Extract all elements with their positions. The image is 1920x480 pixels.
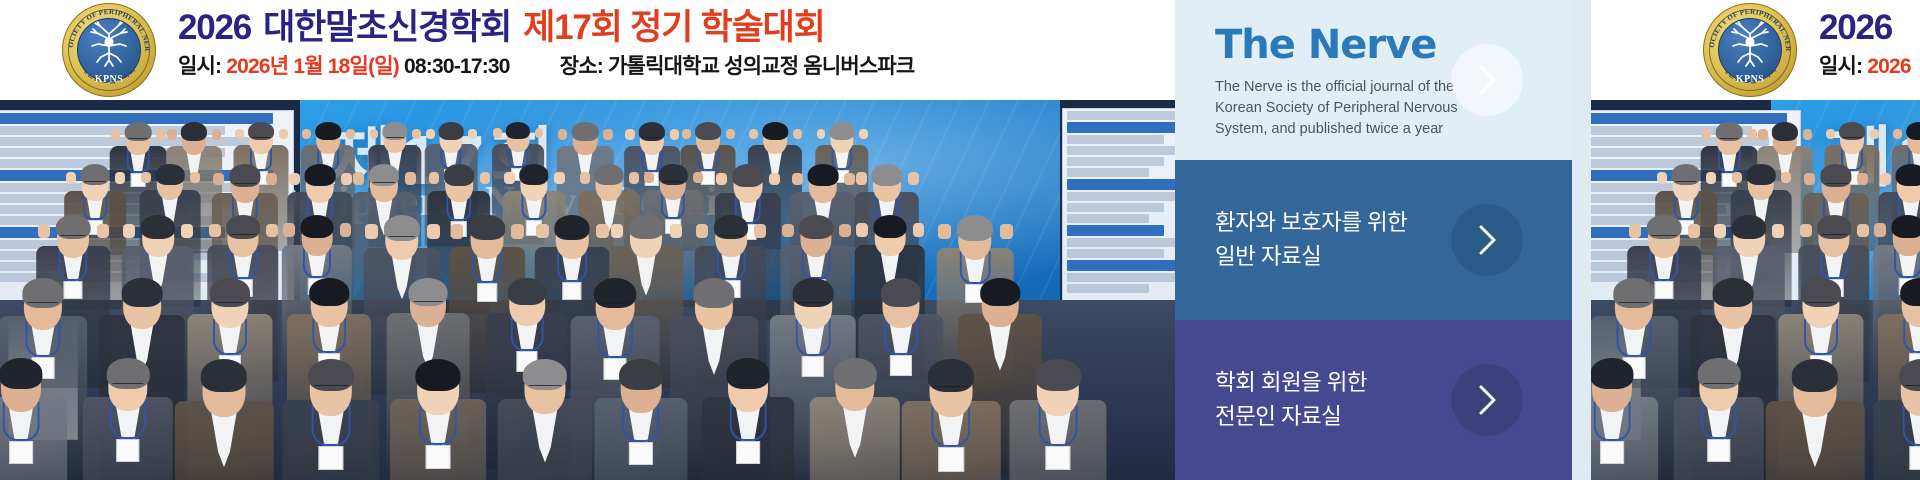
chevron-right-icon[interactable]: [1451, 364, 1523, 436]
sidebar-edge-strip: [1572, 0, 1591, 480]
attendee-raised-fist: [908, 172, 919, 184]
attendee-glasses: [372, 182, 395, 188]
attendee-glasses: [528, 385, 562, 393]
attendee-raised-fist: [1800, 224, 1812, 238]
attendee-raised-fist: [346, 129, 355, 139]
seal-acronym-next: KPNS: [1703, 74, 1797, 85]
next-date-label: 일시:: [1819, 55, 1862, 78]
attendee: [594, 355, 687, 480]
attendee: [175, 355, 274, 480]
attendee-raised-fist: [856, 223, 868, 237]
attendee-glasses: [559, 235, 586, 241]
attendee-raised-fist: [289, 173, 300, 186]
attendee-glasses: [413, 301, 443, 308]
attendee-glasses: [1719, 138, 1739, 143]
attendee-raised-fist: [1706, 172, 1716, 184]
attendee-badge: [318, 446, 343, 470]
attendee: [1873, 355, 1920, 480]
attendee-glasses: [233, 183, 257, 189]
attendee-raised-fist: [181, 224, 193, 238]
the-nerve-logo: The Nerve: [1215, 21, 1465, 69]
neuron-icon: [1724, 20, 1776, 72]
attendee-glasses: [798, 302, 829, 309]
attendee-glasses: [1618, 302, 1649, 310]
attendee-raised-fist: [859, 129, 868, 139]
attendee-hair: [572, 122, 599, 141]
attendee: [390, 355, 486, 480]
date-value: 2026년 1월 18일(일): [226, 55, 399, 78]
attendee-hair: [181, 122, 207, 141]
banner-photo: 제17회 Peripheral Nerve Repair: [0, 100, 1175, 480]
attendee-hair: [305, 164, 336, 186]
attendee-glasses: [27, 302, 58, 310]
attendee-raised-fist: [156, 129, 165, 140]
attendee-raised-fist: [793, 129, 802, 139]
kpns-logo: THE KOREAN SOCIETY OF PERIPHERAL NERVOUS…: [62, 3, 156, 97]
next-banner-title: 2026: [1819, 6, 1911, 50]
attendee-raised-fist: [123, 224, 135, 238]
program-board-right: [1062, 108, 1175, 313]
attendee-raised-fist: [611, 224, 623, 238]
banner-title-society: 대한말초신경학회: [263, 8, 511, 47]
attendee-raised-fist: [749, 129, 758, 139]
attendee: [1009, 355, 1106, 480]
attendee-hair: [1900, 278, 1920, 306]
attendee-raised-fist: [535, 128, 544, 138]
attendee-hair: [594, 164, 623, 185]
date-label: 일시:: [178, 55, 221, 78]
attendee-raised-fist: [167, 129, 176, 140]
attendee-glasses: [1675, 181, 1697, 186]
attendee-raised-fist: [670, 224, 682, 238]
attendee-raised-fist: [913, 223, 925, 237]
attendee: [702, 355, 794, 480]
attendee-hair: [1891, 215, 1920, 239]
attendee-raised-fist: [726, 129, 735, 140]
attendee-badge: [938, 447, 964, 472]
attendee-raised-fist: [353, 172, 364, 184]
attendee-hair: [732, 164, 763, 186]
seal-center: [77, 18, 141, 82]
seal-center-next: [1718, 18, 1782, 82]
attendee: [282, 355, 379, 480]
attendee-raised-fist: [266, 224, 278, 238]
next-banner-title-year: 2026: [1819, 8, 1892, 47]
attendee-hair: [439, 122, 464, 140]
attendee-hair: [872, 164, 902, 186]
attendee-badge: [426, 445, 451, 469]
attendee-raised-fist: [1870, 129, 1879, 140]
attendee-raised-fist: [554, 172, 564, 184]
attendee-raised-fist: [97, 224, 109, 238]
attendee-glasses: [1806, 302, 1836, 309]
attendee-raised-fist: [844, 173, 855, 186]
attendee-hair: [122, 278, 163, 307]
attendee-raised-fist: [340, 223, 352, 237]
sidebar-cards: The Nerve The Nerve is the official jour…: [1175, 0, 1591, 480]
attendee-hair: [415, 359, 460, 391]
attendee-raised-fist: [625, 129, 634, 140]
kpns-logo-next: THE KOREAN SOCIETY OF PERIPHERAL NERVOUS…: [1703, 3, 1797, 97]
attendee-hair: [444, 164, 474, 185]
attendee-raised-fist: [1732, 172, 1742, 184]
attendee-glasses: [933, 386, 968, 394]
attendee-badge: [9, 441, 33, 464]
attendee-hair: [629, 215, 664, 240]
attendee-raised-fist: [629, 172, 639, 184]
banner-subtitle: 일시: 2026년 1월 18일(일) 08:30-17:30 장소: 가톨릭대…: [178, 52, 914, 82]
attendee-hair: [1747, 164, 1776, 184]
attendee-glasses: [84, 181, 106, 186]
attendee-hair: [881, 278, 921, 306]
attendee-badge: [1707, 439, 1731, 462]
attendee-raised-fist: [1758, 129, 1767, 140]
kpns-seal-icon-next: THE KOREAN SOCIETY OF PERIPHERAL NERVOUS…: [1703, 3, 1797, 97]
attendee-glasses: [732, 384, 765, 392]
attendee-glasses: [1905, 385, 1920, 393]
attendee-glasses: [599, 303, 631, 311]
attendee-raised-fist: [1804, 173, 1815, 186]
attendee-glasses: [112, 383, 144, 391]
attendee-raised-fist: [792, 173, 803, 186]
attendee-glasses: [251, 137, 271, 142]
attendee-raised-fist: [596, 224, 608, 238]
attendee-glasses: [385, 137, 404, 142]
attendee-raised-fist: [693, 172, 703, 184]
card-general-archive-line1: 환자와 보호자를 위한: [1215, 206, 1407, 240]
attendee-raised-fist: [754, 224, 766, 238]
attendee-raised-fist: [644, 172, 654, 184]
attendee-raised-fist: [769, 173, 780, 186]
attendee-hair: [799, 215, 833, 239]
attendee-raised-fist: [141, 172, 151, 184]
next-banner-title-block: 2026 일시: 2026: [1819, 6, 1911, 82]
attendee-raised-fist: [212, 129, 221, 140]
attendee-raised-fist: [302, 129, 311, 139]
attendee-raised-fist: [365, 224, 378, 239]
attendee-raised-fist: [670, 129, 679, 140]
attendee-raised-fist: [1688, 224, 1700, 238]
attendee-hair: [1732, 215, 1766, 239]
next-date-value: 2026: [1867, 55, 1911, 78]
attendee-raised-fist: [115, 172, 125, 184]
attendee-glasses: [662, 181, 684, 186]
attendee-raised-fist: [782, 224, 794, 238]
attendee-hair: [957, 215, 993, 241]
attendee-raised-fist: [682, 129, 691, 140]
attendee: [0, 355, 67, 480]
card-professional-archive-line1: 학회 회원을 위한: [1215, 366, 1367, 400]
attendee-hair: [834, 358, 877, 388]
next-banner-photo: 제17회: [1591, 100, 1920, 480]
attendee-raised-fist: [480, 172, 491, 184]
attendee-raised-fist: [558, 129, 567, 140]
attendee-hair: [1772, 122, 1798, 141]
attendee-glasses: [1821, 234, 1847, 240]
attendee-raised-fist: [283, 223, 295, 237]
the-nerve-description: The Nerve is the official journal of the…: [1215, 77, 1465, 140]
attendee-hair: [1906, 122, 1920, 140]
attendee-raised-fist: [493, 128, 502, 138]
attendee-hair: [619, 359, 663, 390]
attendee-glasses: [1824, 183, 1848, 189]
kpns-seal-icon: THE KOREAN SOCIETY OF PERIPHERAL NERVOUS…: [62, 3, 156, 97]
attendee-raised-fist: [938, 224, 951, 239]
attendee-raised-fist: [38, 224, 50, 238]
attendee-hair: [469, 215, 505, 240]
attendee-glasses: [877, 234, 902, 240]
attendee-raised-fist: [235, 129, 244, 140]
venue-label: 장소:: [560, 55, 603, 78]
attendee-raised-fist: [603, 129, 612, 140]
attendee-raised-fist: [412, 129, 421, 139]
attendee-raised-fist: [1702, 129, 1711, 140]
attendee-hair: [300, 215, 333, 239]
attendee-raised-fist: [696, 224, 708, 238]
attendee-glasses: [718, 235, 744, 241]
attendee-raised-fist: [279, 129, 288, 140]
banner-title-event: 제17회 정기 학술대회: [523, 8, 825, 47]
attendee-badge: [1600, 441, 1624, 464]
attendee-hair: [156, 164, 185, 184]
attendee-raised-fist: [341, 173, 352, 186]
attendee-glasses: [985, 301, 1015, 308]
attendee-raised-fist: [511, 224, 524, 239]
attendee-glasses: [1651, 235, 1677, 241]
attendee-glasses: [642, 137, 662, 142]
attendee-raised-fist: [451, 224, 464, 239]
attendee-raised-fist: [1714, 224, 1726, 238]
attendee-hair: [0, 358, 43, 389]
attendee-raised-fist: [817, 129, 826, 139]
attendee: [83, 355, 173, 480]
attendee-raised-fist: [1857, 173, 1868, 186]
attendee-glasses: [1703, 383, 1735, 391]
attendee-glasses: [811, 182, 834, 188]
attendee-raised-fist: [427, 224, 440, 239]
attendee-hair: [829, 122, 854, 140]
attendee-hair: [201, 359, 247, 392]
attendee-glasses: [765, 137, 784, 142]
attendee: [1591, 355, 1658, 480]
attendee: [810, 355, 900, 480]
card-the-nerve[interactable]: The Nerve The Nerve is the official jour…: [1175, 0, 1591, 160]
chevron-right-icon[interactable]: [1451, 44, 1523, 116]
attendee-hair: [1591, 358, 1634, 389]
hero-slide-current[interactable]: THE KOREAN SOCIETY OF PERIPHERAL NERVOUS…: [0, 0, 1175, 480]
neuron-icon: [83, 20, 135, 72]
attendee-glasses: [215, 302, 245, 309]
seal-acronym: KPNS: [62, 74, 156, 85]
attendee-raised-fist: [536, 224, 548, 238]
attendee-raised-fist: [266, 173, 277, 186]
banner-title-bar: THE KOREAN SOCIETY OF PERIPHERAL NERVOUS…: [0, 0, 1175, 100]
attendee-glasses: [314, 385, 349, 393]
attendee: [902, 355, 1001, 480]
attendee-raised-fist: [1880, 173, 1891, 186]
attendee-hair: [1035, 359, 1081, 391]
attendee: [1766, 355, 1865, 480]
attendee-raised-fist: [1803, 129, 1812, 140]
attendee-hair: [508, 278, 546, 305]
attendee: [1674, 355, 1764, 480]
card-general-archive[interactable]: 환자와 보호자를 위한 일반 자료실: [1175, 160, 1591, 320]
attendee-raised-fist: [1747, 129, 1756, 140]
attendee-raised-fist: [1893, 129, 1902, 139]
attendee-hair: [693, 278, 734, 307]
card-professional-archive-line2: 전문인 자료실: [1215, 400, 1367, 434]
attendee-raised-fist: [405, 172, 416, 184]
attendee-badge: [1045, 446, 1070, 470]
attendee-raised-fist: [190, 172, 200, 184]
attendee-glasses: [509, 136, 528, 140]
attendee-glasses: [60, 235, 86, 241]
attendee: [498, 355, 592, 480]
attendee-raised-fist: [1826, 129, 1835, 140]
attendee-raised-fist: [1772, 224, 1784, 238]
attendee-hair: [315, 122, 341, 140]
attendee-raised-fist: [856, 172, 867, 184]
next-banner-title-bar: THE KOREAN SOCIETY OF PERIPHERAL NERVOUS…: [1591, 0, 1920, 100]
hero-slide-next[interactable]: THE KOREAN SOCIETY OF PERIPHERAL NERVOUS…: [1591, 0, 1920, 480]
attendee-raised-fist: [1874, 223, 1886, 237]
card-general-archive-line2: 일반 자료실: [1215, 240, 1407, 274]
attendee-raised-fist: [1857, 224, 1869, 238]
attendee-badge: [736, 441, 760, 464]
attendee-raised-fist: [504, 172, 514, 184]
attendee-raised-fist: [1781, 172, 1791, 184]
page-root: THE KOREAN SOCIETY OF PERIPHERAL NERVOUS…: [0, 0, 1920, 480]
attendee-raised-fist: [1629, 224, 1641, 238]
attendee-glasses: [1842, 137, 1862, 142]
attendee-hair: [309, 278, 349, 306]
attendee-glasses: [128, 138, 148, 143]
attendee-raised-fist: [1000, 224, 1013, 239]
attendee-hair: [695, 122, 721, 140]
attendee-hair: [1896, 164, 1920, 186]
attendee-raised-fist: [1657, 172, 1667, 184]
attendee-badge: [1909, 446, 1920, 470]
attendee-raised-fist: [429, 172, 440, 184]
attendee-raised-fist: [839, 224, 851, 238]
banner-title-block: 2026대한말초신경학회제17회 정기 학술대회 일시: 2026년 1월 18…: [178, 6, 914, 82]
attendee-badge: [629, 442, 653, 465]
attendee-raised-fist: [370, 129, 379, 139]
venue-value: 가톨릭대학교 성의교정 옴니버스파크: [608, 55, 914, 78]
attendee-glasses: [230, 234, 256, 240]
attendee-hair: [1792, 359, 1838, 392]
banner-title: 2026대한말초신경학회제17회 정기 학술대회: [178, 6, 914, 50]
attendee-raised-fist: [426, 129, 435, 139]
attendee-raised-fist: [111, 129, 120, 140]
attendee-raised-fist: [468, 129, 477, 139]
card-professional-archive[interactable]: 학회 회원을 위한 전문인 자료실: [1175, 320, 1591, 480]
attendee-hair: [141, 215, 175, 239]
attendee-glasses: [388, 236, 415, 243]
attendee-glasses: [523, 182, 545, 187]
chevron-right-icon[interactable]: [1451, 204, 1523, 276]
banner-title-year: 2026: [178, 8, 251, 47]
attendee-badge: [116, 439, 140, 462]
attendee-raised-fist: [716, 173, 727, 186]
attendee-raised-fist: [66, 172, 76, 184]
attendee-hair: [1713, 278, 1754, 307]
attendee-raised-fist: [213, 173, 224, 186]
next-banner-subtitle: 일시: 2026: [1819, 52, 1911, 82]
attendee-raised-fist: [580, 172, 590, 184]
time-value: 08:30-17:30: [404, 55, 510, 78]
attendee-raised-fist: [209, 224, 221, 238]
